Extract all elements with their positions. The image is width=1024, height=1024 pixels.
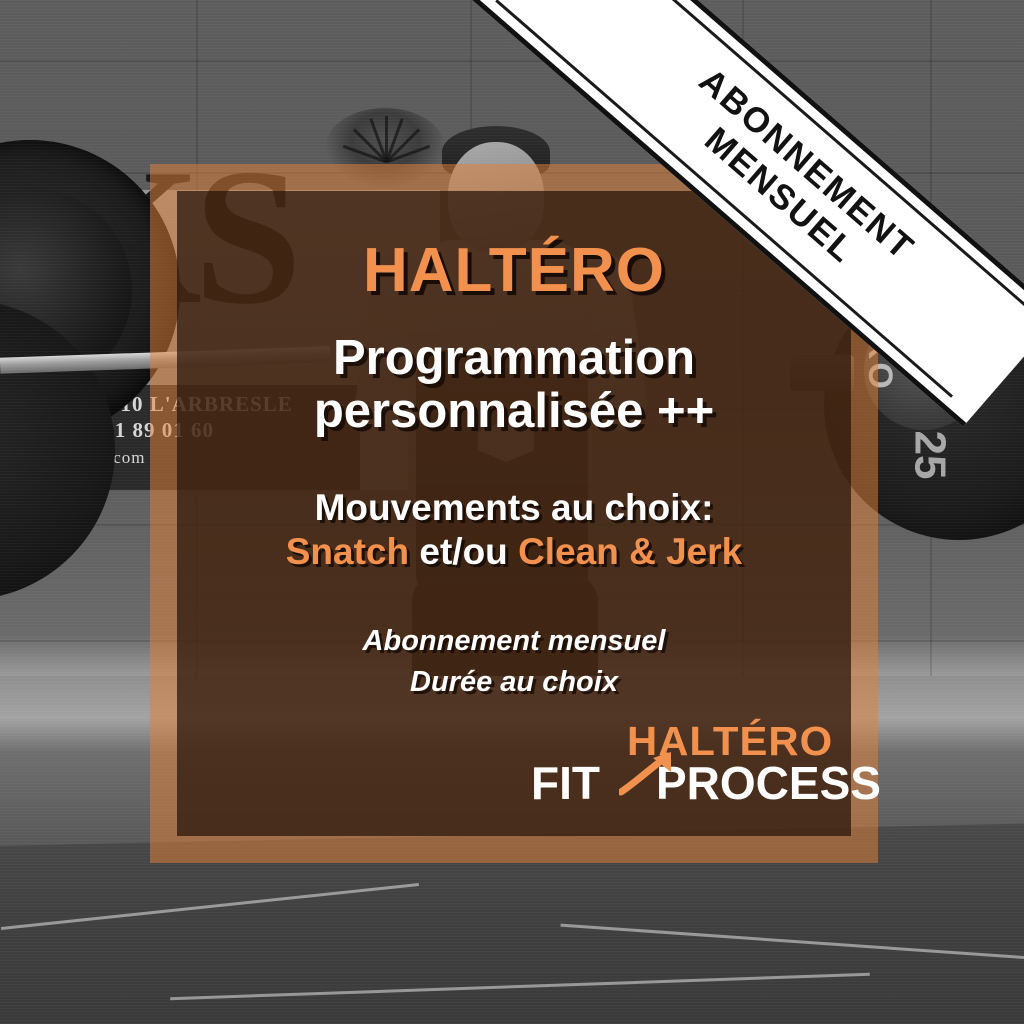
logo-process-text: PROCESS (656, 757, 881, 809)
note-line-2: Durée au choix (363, 662, 666, 703)
subscription-note: Abonnement mensuel Durée au choix (363, 621, 666, 703)
subtitle: Programmation personnalisée ++ (314, 332, 714, 438)
brand-logo: HALTÉRO FITPROCESS (531, 718, 831, 810)
logo-fitprocess-text: FITPROCESS (531, 756, 881, 810)
note-line-1: Abonnement mensuel (363, 621, 666, 662)
movement-clean-and-jerk: Clean & Jerk (518, 531, 742, 572)
movements-block: Mouvements au choix: Snatch et/ou Clean … (286, 486, 742, 575)
arrow-icon (619, 748, 675, 796)
movements-conjunction: et/ou (409, 531, 518, 572)
poster-canvas: KS Club de Force et Haltérophilie 69210 … (0, 0, 1024, 1024)
page-title: HALTÉRO (363, 235, 665, 306)
wall-seam (0, 60, 1024, 62)
plate-weight-label: 25 (905, 431, 955, 480)
subtitle-line-1: Programmation (314, 332, 714, 385)
subtitle-line-2: personnalisée ++ (314, 385, 714, 438)
poster-content: HALTÉRO Programmation personnalisée ++ M… (177, 191, 851, 836)
movements-label: Mouvements au choix: (286, 486, 742, 530)
movements-choices: Snatch et/ou Clean & Jerk (286, 530, 742, 574)
movement-snatch: Snatch (286, 531, 409, 572)
logo-fit-text: FIT (531, 757, 600, 809)
